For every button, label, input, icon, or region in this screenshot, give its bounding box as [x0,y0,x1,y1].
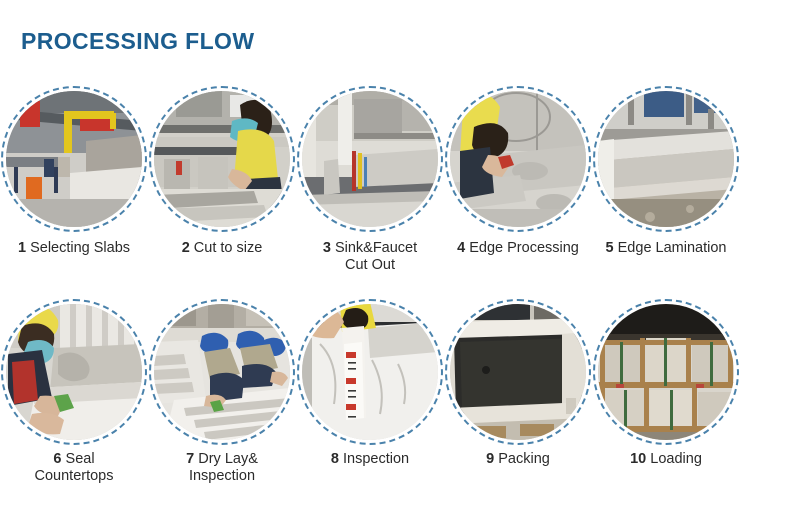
step-3-number: 3 [323,240,331,256]
step-2-label: Cut to size [194,240,263,256]
step-5-label: Edge Lamination [618,240,727,256]
process-step-6[interactable]: 6 Seal Countertops [0,299,148,445]
step-9-caption: 9 Packing [432,451,604,468]
step-3-caption: 3 Sink&Faucet Cut Out [284,240,456,274]
process-step-8[interactable]: 8 Inspection [296,299,444,445]
step-5-number: 5 [606,240,614,256]
process-step-1[interactable]: 1 Selecting Slabs [0,86,148,232]
step-2-circle [149,86,295,232]
step-7-circle [149,299,295,445]
step-5-circle [593,86,739,232]
step-7-caption: 7 Dry Lay& Inspection [136,451,308,485]
process-step-7[interactable]: 7 Dry Lay& Inspection [148,299,296,445]
step-4-label: Edge Processing [469,240,579,256]
step-1-number: 1 [18,240,26,256]
step-6-label: Seal Countertops [35,451,114,484]
process-row-top: 1 Selecting Slabs [0,86,790,232]
process-step-10[interactable]: 10 Loading [592,299,740,445]
step-5-caption: 5 Edge Lamination [580,240,752,257]
step-9-dashed-ring [445,299,591,445]
step-2-caption: 2 Cut to size [136,240,308,257]
step-10-dashed-ring [593,299,739,445]
step-8-caption: 8 Inspection [284,451,456,468]
step-4-caption: 4 Edge Processing [432,240,604,257]
step-2-dashed-ring [149,86,295,232]
step-10-number: 10 [630,451,646,467]
step-7-number: 7 [186,451,194,467]
step-4-circle [445,86,591,232]
step-6-circle [1,299,147,445]
step-1-circle [1,86,147,232]
step-4-dashed-ring [445,86,591,232]
step-5-dashed-ring [593,86,739,232]
step-2-number: 2 [182,240,190,256]
page-title: PROCESSING FLOW [21,28,254,55]
step-3-label: Sink&Faucet Cut Out [335,240,417,273]
step-10-label: Loading [650,451,702,467]
step-8-number: 8 [331,451,339,467]
step-1-label: Selecting Slabs [30,240,130,256]
step-3-circle [297,86,443,232]
process-step-3[interactable]: 3 Sink&Faucet Cut Out [296,86,444,232]
step-1-dashed-ring [1,86,147,232]
process-row-bottom: 6 Seal Countertops [0,299,790,445]
step-9-label: Packing [498,451,550,467]
step-8-circle [297,299,443,445]
process-step-9[interactable]: 9 Packing [444,299,592,445]
step-9-circle [445,299,591,445]
step-7-label: Dry Lay& Inspection [189,451,258,484]
step-3-dashed-ring [297,86,443,232]
step-8-dashed-ring [297,299,443,445]
step-10-caption: 10 Loading [580,451,752,468]
process-step-5[interactable]: 5 Edge Lamination [592,86,740,232]
step-7-dashed-ring [149,299,295,445]
process-step-4[interactable]: 4 Edge Processing [444,86,592,232]
process-step-2[interactable]: 2 Cut to size [148,86,296,232]
step-4-number: 4 [457,240,465,256]
step-10-circle [593,299,739,445]
step-8-label: Inspection [343,451,409,467]
step-9-number: 9 [486,451,494,467]
step-6-dashed-ring [1,299,147,445]
processing-flow-page: PROCESSING FLOW [0,0,790,520]
step-6-number: 6 [53,451,61,467]
